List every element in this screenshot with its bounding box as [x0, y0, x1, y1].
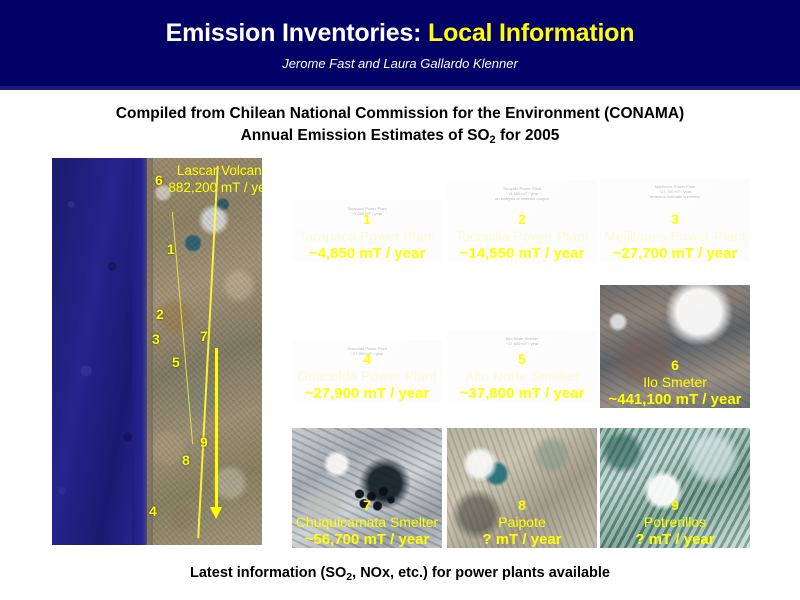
page-title: Emission Inventories: Local Information [0, 19, 800, 48]
facility-caption-4: 4Guacolda Power Plant~27,900 mT / year [292, 351, 442, 402]
facility-name-7: Chuquicamata Smelter [292, 514, 442, 531]
chile-satellite-map[interactable]: Lascar Volcano 882,200 mT / year 6127359… [52, 158, 262, 545]
facility-name-9: Potrerillos [600, 514, 750, 531]
facility-number-2: 2 [447, 211, 597, 228]
facility-caption-1: 1Tarapaca Power Plant~4,850 mT / year [292, 211, 442, 262]
facility-emission-value-2: ~14,550 mT / year [447, 245, 597, 262]
map-marker-1[interactable]: 1 [167, 241, 175, 257]
slide-header-band: Emission Inventories: Local Information … [0, 0, 800, 90]
facility-card-1[interactable]: Tarapaca Power Plant ~4,850 mT / year1Ta… [292, 200, 442, 262]
facility-caption-3: 3Mejillones Power Plant~27,700 mT / year [600, 211, 750, 262]
facility-card-3[interactable]: Mejillones Power Plant ~27,700 mT / year… [600, 178, 750, 262]
facility-emission-value-6: ~441,100 mT / year [600, 391, 750, 408]
map-marker-4[interactable]: 4 [149, 503, 157, 519]
facility-name-4: Guacolda Power Plant [292, 368, 442, 385]
so2-subscript: 2 [490, 134, 496, 146]
map-coastline [142, 158, 153, 545]
subheading-line-2-pre: Annual Emission Estimates of SO [241, 127, 490, 144]
facility-emission-value-7: ~56,700 mT / year [292, 531, 442, 548]
map-marker-9[interactable]: 9 [200, 434, 208, 450]
footer-note-post: , NOx, etc.) for power plants available [352, 565, 610, 581]
facility-caption-8: 8Paipote? mT / year [447, 497, 597, 548]
facility-number-1: 1 [292, 211, 442, 228]
facility-emission-value-3: ~27,700 mT / year [600, 245, 750, 262]
lascar-volcano-arrow-icon [215, 348, 218, 508]
map-marker-2[interactable]: 2 [156, 306, 164, 322]
footer-so2-subscript: 2 [346, 571, 352, 583]
map-marker-7[interactable]: 7 [200, 328, 208, 344]
facility-number-8: 8 [447, 497, 597, 514]
facility-number-9: 9 [600, 497, 750, 514]
faded-document-text-2: Tocopilla Power Plant ~14,550 mT / year … [447, 186, 597, 201]
facility-card-9[interactable]: 9Potrerillos? mT / year [600, 428, 750, 548]
facility-card-7[interactable]: 7Chuquicamata Smelter~56,700 mT / year [292, 428, 442, 548]
lascar-volcano-callout: Lascar Volcano 882,200 mT / year [148, 162, 262, 196]
facility-caption-7: 7Chuquicamata Smelter~56,700 mT / year [292, 497, 442, 548]
facility-emission-value-8: ? mT / year [447, 531, 597, 548]
map-marker-8[interactable]: 8 [182, 452, 190, 468]
faded-document-text-3: Mejillones Power Plant ~27,700 mT / year… [600, 184, 750, 199]
page-title-accent: Local Information [428, 19, 634, 47]
map-land-region [147, 158, 263, 545]
map-marker-3[interactable]: 3 [152, 331, 160, 347]
facility-number-6: 6 [600, 357, 750, 374]
facility-card-4[interactable]: Guacolda Power Plant ~27,900 mT / year4G… [292, 340, 442, 402]
map-marker-6[interactable]: 6 [155, 172, 163, 188]
facility-card-8[interactable]: 8Paipote? mT / year [447, 428, 597, 548]
facility-name-5: Alto Norte Smelter [447, 368, 597, 385]
facility-caption-2: 2Tocopilla Power Plant~14,550 mT / year [447, 211, 597, 262]
lascar-volcano-name: Lascar Volcano [148, 162, 262, 179]
facility-number-7: 7 [292, 497, 442, 514]
facility-emission-value-1: ~4,850 mT / year [292, 245, 442, 262]
facility-card-2[interactable]: Tocopilla Power Plant ~14,550 mT / year … [447, 180, 597, 262]
facility-emission-value-9: ? mT / year [600, 531, 750, 548]
subheading-line-1: Compiled from Chilean National Commissio… [0, 103, 800, 125]
facility-name-6: Ilo Smeter [600, 374, 750, 391]
facility-card-6[interactable]: 6Ilo Smeter~441,100 mT / year [600, 285, 750, 408]
facility-caption-6: 6Ilo Smeter~441,100 mT / year [600, 357, 750, 408]
page-title-main: Emission Inventories: [166, 19, 422, 47]
facility-caption-5: 5Alto Norte Smelter~37,800 mT / year [447, 351, 597, 402]
facility-number-5: 5 [447, 351, 597, 368]
footer-note-pre: Latest information (SO [190, 565, 346, 581]
lascar-volcano-value: 882,200 mT / year [148, 179, 262, 196]
slide-authors: Jerome Fast and Laura Gallardo Klenner [0, 56, 800, 71]
facility-emission-value-4: ~27,900 mT / year [292, 385, 442, 402]
facility-name-3: Mejillones Power Plant [600, 228, 750, 245]
faded-document-text-5: Alto Norte Smelter ~37,800 mT / year [447, 336, 597, 346]
facility-name-1: Tarapaca Power Plant [292, 228, 442, 245]
footer-note: Latest information (SO2, NOx, etc.) for … [0, 565, 800, 581]
slide-subheading: Compiled from Chilean National Commissio… [0, 103, 800, 148]
facility-caption-9: 9Potrerillos? mT / year [600, 497, 750, 548]
facility-name-2: Tocopilla Power Plant [447, 228, 597, 245]
facility-emission-value-5: ~37,800 mT / year [447, 385, 597, 402]
facility-card-5[interactable]: Alto Norte Smelter ~37,800 mT / year5Alt… [447, 330, 597, 402]
facility-number-3: 3 [600, 211, 750, 228]
subheading-line-2: Annual Emission Estimates of SO2 for 200… [0, 125, 800, 148]
subheading-line-2-post: for 2005 [496, 127, 560, 144]
facility-name-8: Paipote [447, 514, 597, 531]
map-marker-5[interactable]: 5 [172, 354, 180, 370]
facility-number-4: 4 [292, 351, 442, 368]
